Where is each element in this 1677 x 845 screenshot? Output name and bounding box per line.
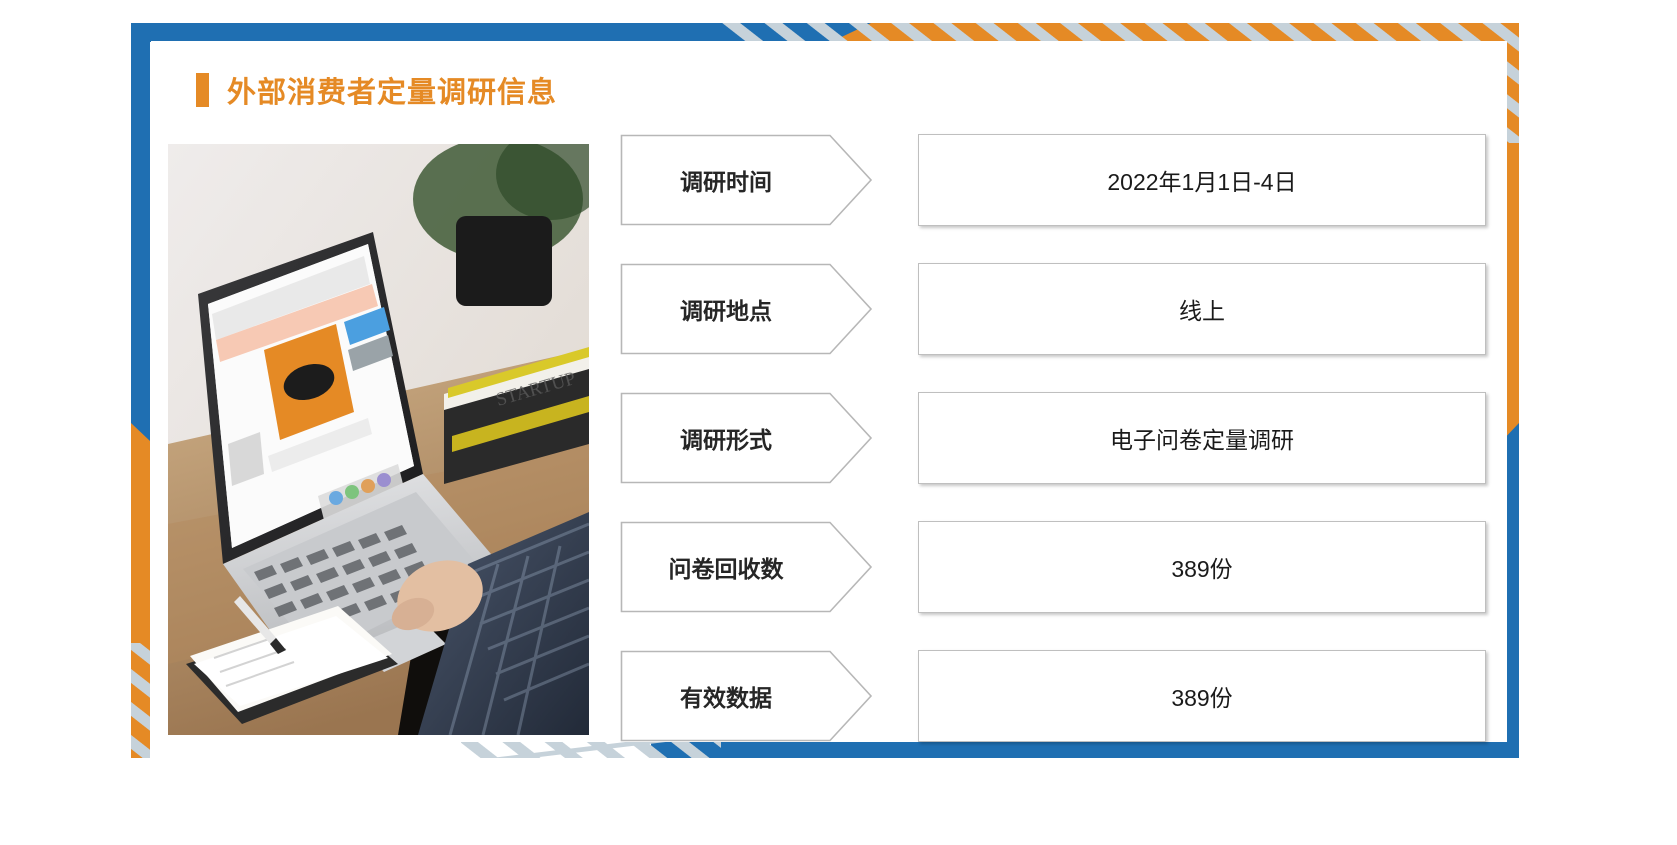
info-row-value-box: 2022年1月1日-4日 (918, 134, 1486, 226)
content-card: 外部消费者定量调研信息 (151, 41, 1507, 742)
info-row-value: 电子问卷定量调研 (1110, 421, 1294, 455)
info-row-label: 调研地点 (620, 263, 832, 355)
page-title: 外部消费者定量调研信息 (196, 69, 557, 111)
title-label: 外部消费者定量调研信息 (227, 69, 557, 111)
info-row-label: 调研形式 (620, 392, 832, 484)
info-row-label-chevron: 有效数据 (620, 650, 873, 742)
info-row-value-box: 389份 (918, 650, 1486, 742)
title-accent-bar (196, 73, 209, 107)
laptop-photo: STARTUP (168, 144, 589, 735)
info-row-value: 2022年1月1日-4日 (1107, 163, 1296, 197)
info-row-label-chevron: 调研地点 (620, 263, 873, 355)
info-row-value-box: 电子问卷定量调研 (918, 392, 1486, 484)
info-row-label-chevron: 调研时间 (620, 134, 873, 226)
info-row-label-chevron: 调研形式 (620, 392, 873, 484)
info-row-label: 有效数据 (620, 650, 832, 742)
info-row-value-box: 线上 (918, 263, 1486, 355)
info-row-value: 389份 (1171, 550, 1232, 584)
survey-info-list: 调研时间 2022年1月1日-4日 调研地点 线上 (620, 134, 1486, 741)
info-row-label-chevron: 问卷回收数 (620, 521, 873, 613)
laptop-photo-graphic: STARTUP (168, 144, 589, 735)
info-row-value-box: 389份 (918, 521, 1486, 613)
info-row: 问卷回收数 389份 (620, 521, 1486, 613)
info-row-label: 调研时间 (620, 134, 832, 226)
info-row: 调研地点 线上 (620, 263, 1486, 355)
info-row-label: 问卷回收数 (620, 521, 832, 613)
info-row: 调研时间 2022年1月1日-4日 (620, 134, 1486, 226)
info-row: 有效数据 389份 (620, 650, 1486, 742)
slide-canvas: 外部消费者定量调研信息 (0, 0, 1677, 845)
info-row-value: 389份 (1171, 679, 1232, 713)
info-row: 调研形式 电子问卷定量调研 (620, 392, 1486, 484)
info-row-value: 线上 (1179, 292, 1225, 326)
